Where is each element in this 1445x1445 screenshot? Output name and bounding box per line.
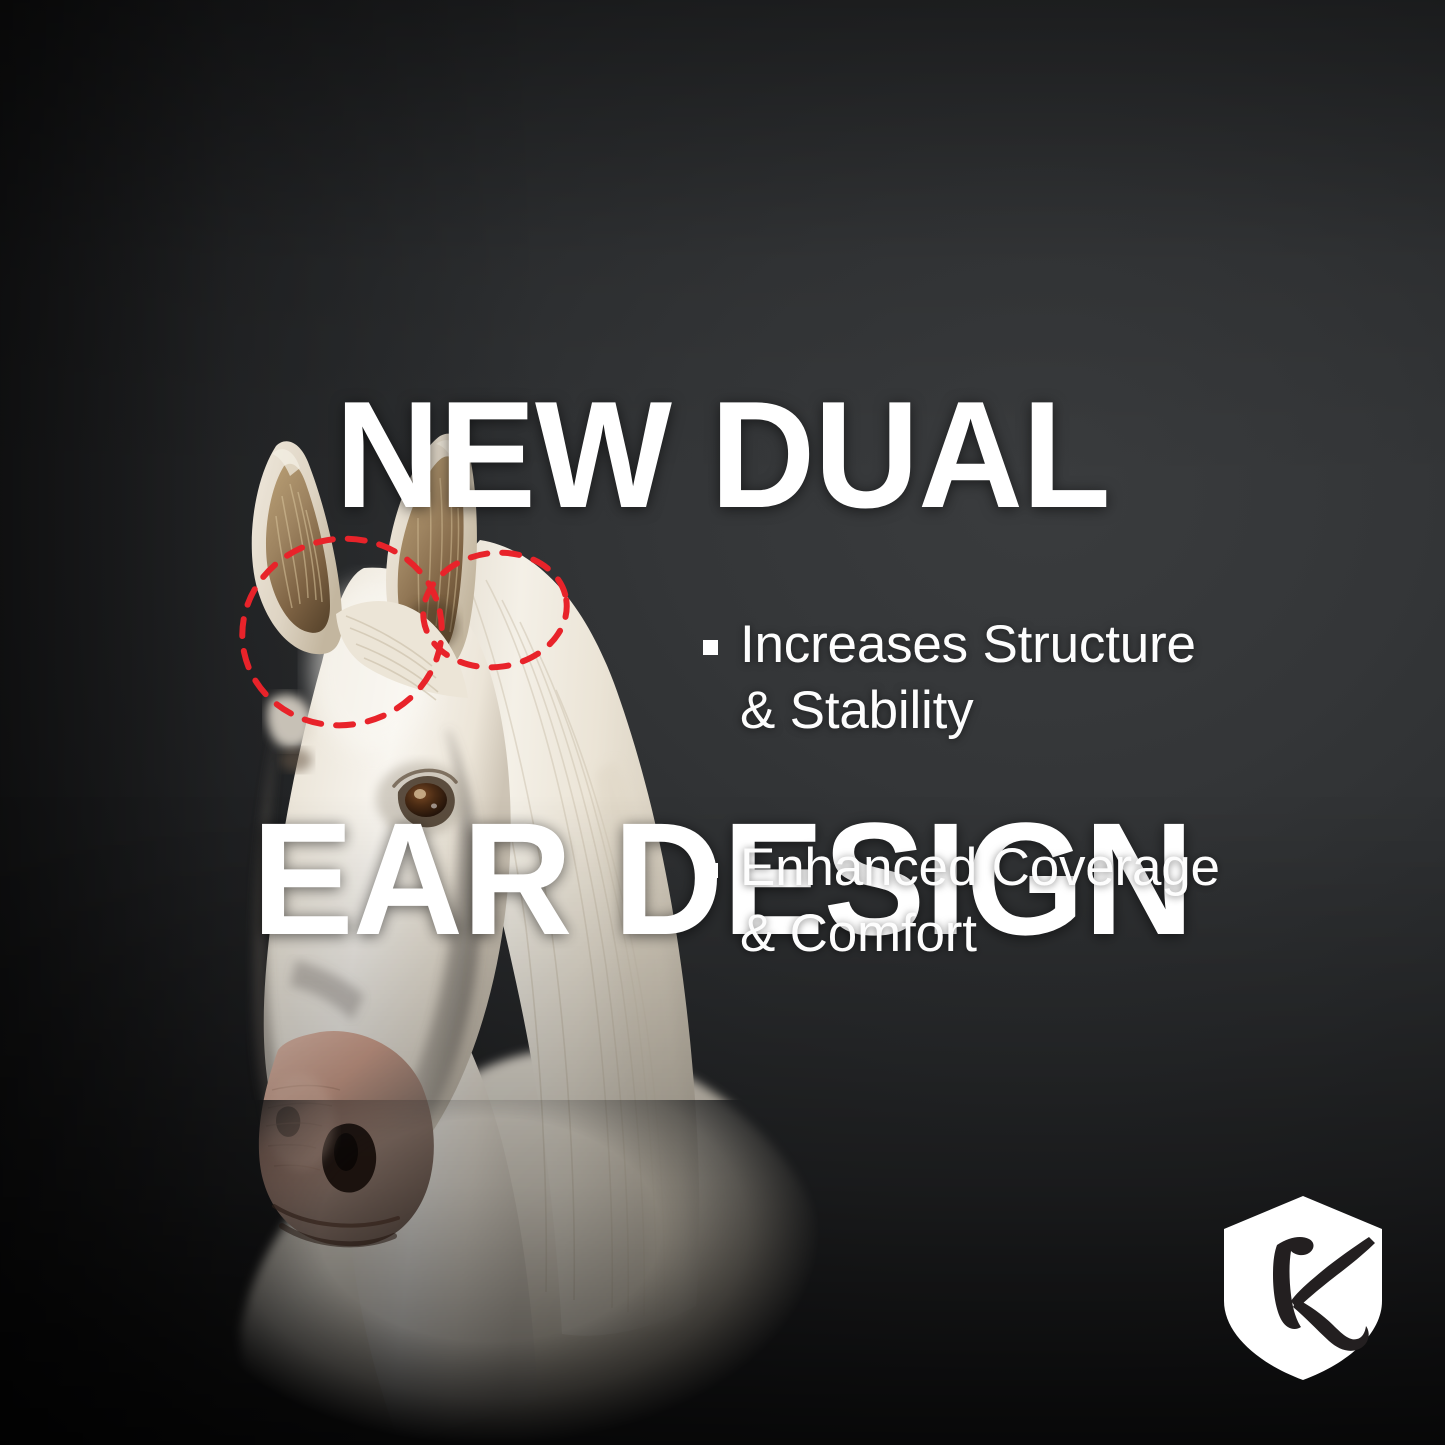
list-item: Increases Structure & Stability xyxy=(700,612,1360,743)
list-item: Enhanced Coverage & Comfort xyxy=(700,835,1360,966)
feature-list: Increases Structure & Stability Enhanced… xyxy=(700,612,1360,967)
square-bullet-icon xyxy=(703,640,718,655)
feature-2-line-1: Enhanced Coverage xyxy=(740,838,1220,897)
square-bullet-icon xyxy=(703,863,718,878)
feature-2-line-2: & Comfort xyxy=(740,904,977,963)
headline-line-1: NEW DUAL xyxy=(33,386,1413,526)
shield-k-logo xyxy=(1219,1193,1387,1383)
feature-1-line-2: & Stability xyxy=(740,681,973,740)
ad-creative-canvas: NEW DUAL EAR DESIGN Increases Structure … xyxy=(0,0,1445,1445)
feature-1-line-1: Increases Structure xyxy=(740,615,1196,674)
